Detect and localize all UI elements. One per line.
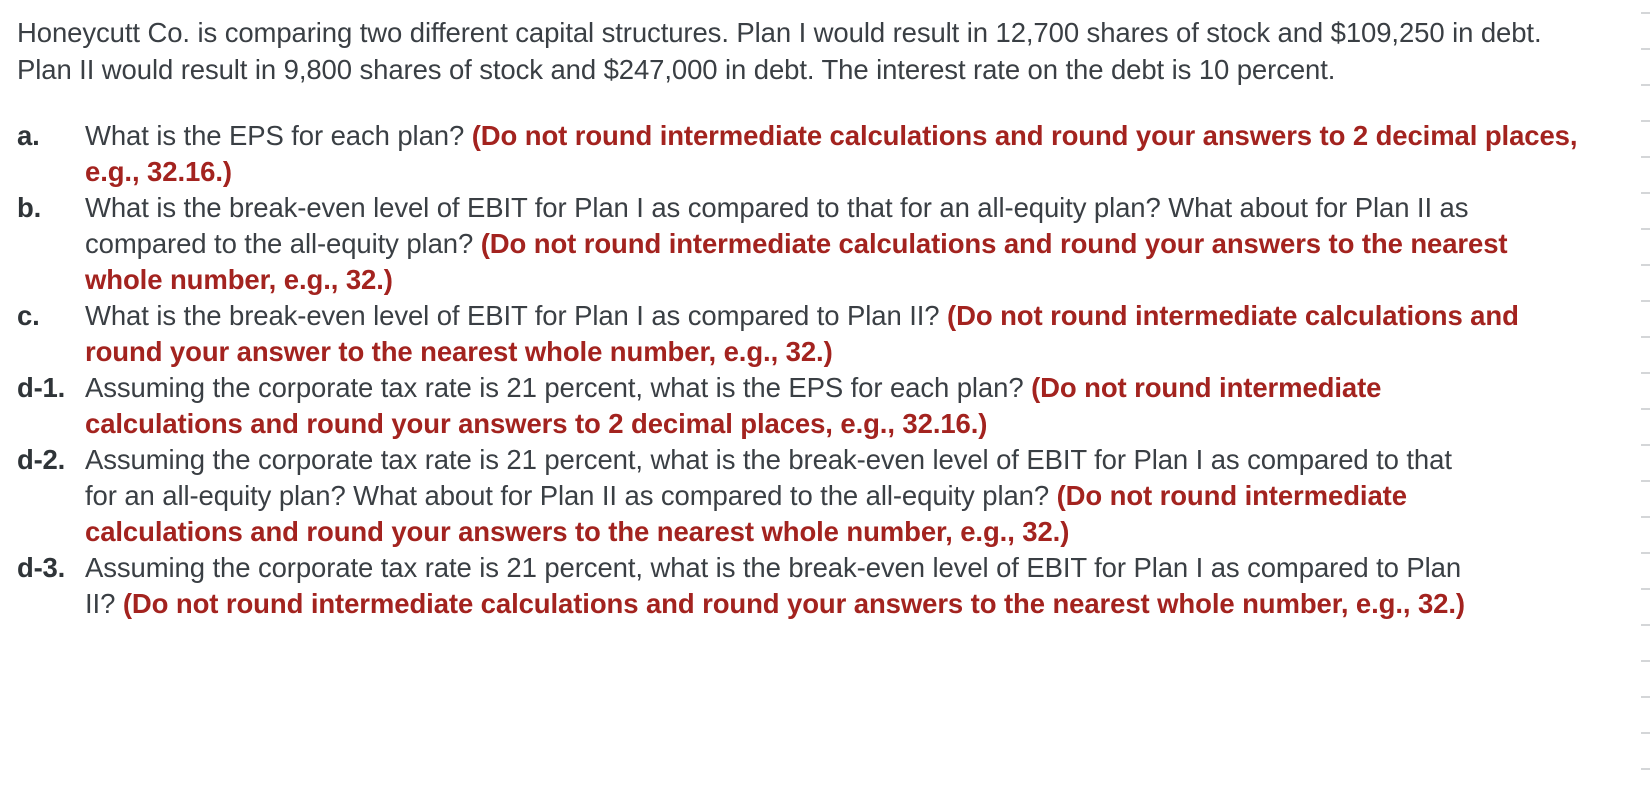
edge-mark xyxy=(1641,696,1650,698)
question-text-d3: Assuming the corporate tax rate is 21 pe… xyxy=(85,550,1503,622)
question-list: a. What is the EPS for each plan? (Do no… xyxy=(0,118,1652,622)
question-text-a: What is the EPS for each plan? (Do not r… xyxy=(85,118,1643,190)
question-label-a: a. xyxy=(0,118,85,154)
edge-mark xyxy=(1641,12,1650,14)
question-label-d2: d-2. xyxy=(0,442,85,478)
question-item-b: b. What is the break-even level of EBIT … xyxy=(0,190,1652,298)
question-text-b: What is the break-even level of EBIT for… xyxy=(85,190,1555,298)
question-label-c: c. xyxy=(0,298,85,334)
problem-intro-paragraph: Honeycutt Co. is comparing two different… xyxy=(17,14,1547,88)
question-item-d1: d-1. Assuming the corporate tax rate is … xyxy=(0,370,1652,442)
question-label-d1: d-1. xyxy=(0,370,85,406)
question-text-d2: Assuming the corporate tax rate is 21 pe… xyxy=(85,442,1483,550)
question-item-d2: d-2. Assuming the corporate tax rate is … xyxy=(0,442,1652,550)
question-prompt-c: What is the break-even level of EBIT for… xyxy=(85,300,947,331)
edge-mark xyxy=(1641,624,1650,626)
edge-mark xyxy=(1641,660,1650,662)
question-item-c: c. What is the break-even level of EBIT … xyxy=(0,298,1652,370)
question-prompt-d1: Assuming the corporate tax rate is 21 pe… xyxy=(85,372,1031,403)
question-item-d3: d-3. Assuming the corporate tax rate is … xyxy=(0,550,1652,622)
edge-mark xyxy=(1641,48,1650,50)
question-item-a: a. What is the EPS for each plan? (Do no… xyxy=(0,118,1652,190)
question-text-c: What is the break-even level of EBIT for… xyxy=(85,298,1543,370)
edge-mark xyxy=(1641,768,1650,770)
question-label-b: b. xyxy=(0,190,85,226)
problem-page: Honeycutt Co. is comparing two different… xyxy=(0,0,1652,790)
question-text-d1: Assuming the corporate tax rate is 21 pe… xyxy=(85,370,1443,442)
edge-mark xyxy=(1641,84,1650,86)
edge-mark xyxy=(1641,732,1650,734)
question-label-d3: d-3. xyxy=(0,550,85,586)
question-hint-d3: (Do not round intermediate calculations … xyxy=(123,588,1465,619)
question-prompt-a: What is the EPS for each plan? xyxy=(85,120,472,151)
